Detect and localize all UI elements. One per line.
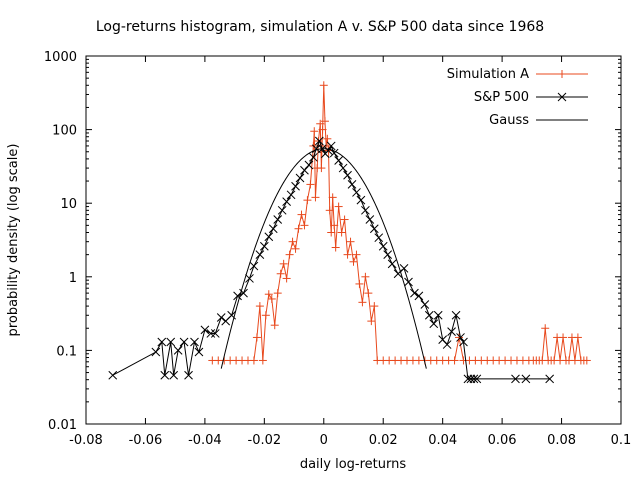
x-tick-label: -0.08 [69, 433, 103, 448]
x-tick-label: -0.06 [129, 433, 163, 448]
x-tick-label: 0.04 [428, 433, 457, 448]
x-tick-label: 0.06 [488, 433, 517, 448]
x-tick-label: -0.04 [188, 433, 222, 448]
legend-label-gauss: Gauss [489, 113, 529, 128]
chart-container: Log-returns histogram, simulation A v. S… [0, 0, 640, 480]
chart-background [0, 0, 640, 480]
legend-label-simulation-a: Simulation A [447, 67, 529, 82]
log-returns-histogram-chart: Log-returns histogram, simulation A v. S… [0, 0, 640, 480]
x-tick-label: 0.02 [369, 433, 398, 448]
y-tick-label: 0.01 [48, 418, 77, 433]
x-tick-label: 0.08 [547, 433, 576, 448]
y-tick-label: 100 [52, 124, 77, 139]
y-tick-label: 0.1 [56, 344, 77, 359]
x-tick-label: -0.02 [248, 433, 282, 448]
chart-title: Log-returns histogram, simulation A v. S… [96, 19, 544, 35]
x-axis-label: daily log-returns [300, 457, 407, 472]
y-axis-label: probability density (log scale) [6, 144, 21, 337]
y-tick-label: 1000 [44, 50, 77, 65]
x-tick-label: 0 [320, 433, 328, 448]
x-tick-label: 0.1 [611, 433, 632, 448]
y-tick-label: 10 [60, 197, 77, 212]
y-tick-label: 1 [69, 271, 77, 286]
legend-label-s-p-500: S&P 500 [474, 90, 529, 105]
